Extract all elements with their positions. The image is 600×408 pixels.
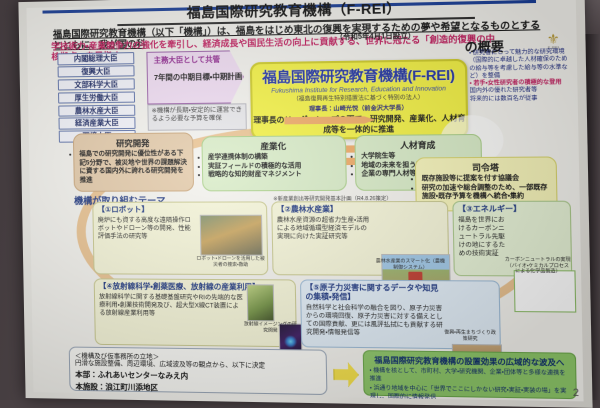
yellow-arrow-icon — [333, 362, 359, 387]
theme-desc: 廃炉にも資する高度な遠隔操作ロボットやドローン等の開発、性能評価手法の研究等 — [98, 217, 196, 241]
minister-item: 経済産業大臣 — [58, 117, 135, 129]
location-facility: 本施設：浪江町川添地区 — [75, 381, 321, 396]
ministers-list: 内閣総理大臣 復興大臣 文部科学大臣 厚生労働大臣 農林水産大臣 経済産業大臣 … — [57, 52, 136, 144]
researcher-line-4: 将来的には数百名が従事 — [470, 95, 569, 104]
minister-item: 文部科学大臣 — [58, 78, 135, 91]
joint-jurisdiction-arrow: 主務大臣として共管 7年間の中期目標・中期計画 — [146, 50, 244, 104]
green-banner-title: 福島国際研究教育機構の設置効果の広域的な波及へ — [369, 354, 569, 368]
theme-card-agriculture: 【②農林水産業】 農林水産資源の超省力生産・活用による地域循環型経済モデルの実現… — [271, 201, 449, 276]
theme-card-nuclear-data: 【⑤原子力災害に関するデータや知見の集積・発信】 自然科学と社会科学の融合を図り… — [300, 279, 501, 349]
pillar-item: 福島での研究開発に優位性がある下記5分野で、被災地や世界の課題解決に資する国内外… — [79, 150, 188, 186]
minister-item: 農林水産大臣 — [58, 104, 135, 116]
theme-caption: カーボンニュートラルの実現（バイオ・ケミカルプロセスによる化学品製造） — [505, 256, 571, 274]
theme-title: 【③エネルギー】 — [458, 205, 566, 214]
theme-card-radiation: 【④放射線科学・創薬医療、放射線の産業利用】 放射線科学に関する基礎基盤研究やR… — [94, 278, 297, 347]
theme-desc: 農林水産資源の超省力生産・活用による地域循環型経済モデルの実現に向けた実証研究等 — [277, 217, 371, 242]
pillar-research-development: 研究開発 福島での研究開発に優位性がある下記5分野で、被災地や世界の課題解決に資… — [73, 132, 194, 191]
green-banner-line-1: ・ 機構を核として、市町村、大学・研究機関、企業・団体等と多様な連携を推進 — [369, 368, 570, 387]
joint-jurisdiction-label: 主務大臣として共管 — [154, 55, 221, 66]
page-number: 2 — [573, 387, 579, 399]
flow-arrow-1 — [284, 116, 375, 124]
theme-caption: 農林水産業のスマート化（農機制御システム） — [375, 258, 446, 270]
theme-card-energy: 【③エネルギー】 福島を世界におけるカーボンニュートラル先駆けの地にするための技… — [452, 201, 572, 277]
theme-thumbnail — [247, 284, 275, 321]
minister-item: 厚生労働大臣 — [58, 91, 135, 104]
theme-caption: ロボット・ドローンを活用した被災者の捜索・救助 — [196, 256, 265, 267]
theme-desc: 福島を世界におけるカーボンニュートラル先駆けの地にするための技術実証 — [458, 216, 507, 258]
projection-screen: 福島国際研究教育機構（F-REI） 福島国際研究教育機構（以下「機構」）は、福島… — [18, 0, 592, 408]
pillar-heading: 司令塔 — [421, 161, 550, 174]
theme-thumbnail — [200, 215, 263, 256]
minister-item: 内閣総理大臣 — [57, 52, 134, 65]
green-banner-line-2: ・ 浜通り地域を中心に「世界でここにしかない研究・実証・実装の場」を実現し、国際… — [370, 385, 571, 401]
location-box: ＜機構及び仮事務所の立地＞ 円滑な施設整備、周辺環境、広域波及等の観点から、以下… — [69, 347, 328, 395]
presentation-slide: 福島国際研究教育機構（F-REI） 福島国際研究教育機構（以下「機構」）は、福島… — [26, 0, 583, 401]
pillar-heading: 産業化 — [208, 139, 340, 152]
pillar-industrialization: 産業化 産学連携体制の構築 実証フィールドの積極的な活用 戦略的な知的財産マネジ… — [201, 135, 347, 191]
theme-thumbnail — [514, 271, 577, 314]
pillar-heading: 研究開発 — [79, 137, 187, 150]
midterm-plan-label: 7年間の中期目標・中期計画 — [154, 72, 242, 82]
frei-institute-box: 福島国際研究教育機構(F-REI) Fukushima Institute fo… — [250, 59, 469, 140]
theme-caption: 復興・再生まちづくり政策研究 — [443, 329, 498, 341]
pillar-item: 戦略的な知的財産マネジメント — [208, 171, 340, 181]
theme-desc: 自然科学と社会科学の融合を図り、原子力災害からの環境回復、原子力災害に対する備え… — [306, 304, 446, 338]
frei-president: 理事長：山崎光悦（前金沢大学長） — [253, 102, 466, 114]
theme-desc: 放射線科学に関する基礎基盤研究やRIの先端的な医療利用・創薬技術開発及び、超大型… — [99, 293, 245, 318]
theme-card-robot: 【①ロボット】 廃炉にも資する高度な遠隔操作ロボットやドローン等の開発、性能評価… — [92, 201, 268, 275]
minister-item: 復興大臣 — [58, 65, 135, 78]
researcher-line-1: ・ 研究者にとって魅力的な研究環境（国際的に卓越した人材確保のための給与等を考慮… — [469, 49, 568, 81]
pillar-item: 研究の加速や総合調整のため、一部既存施設・既存予算を機構へ統合・集約 — [422, 183, 551, 202]
green-banner: 福島国際研究教育機構の設置効果の広域的な波及へ ・ 機構を核として、市町村、大学… — [363, 350, 577, 399]
budget-note: ※機構が長期・安定的に運営できるよう必要な予算を確保 — [147, 103, 247, 131]
theme-title: 【②農林水産業】 — [276, 205, 442, 214]
researcher-environment-column: ・ 研究者にとって魅力的な研究環境（国際的に卓越した人材確保のための給与等を考慮… — [469, 49, 569, 104]
theme-title: 【⑤原子力災害に関するデータや知見の集積・発信】 — [305, 284, 442, 303]
frei-name-jp: 福島国際研究教育機構(F-REI) — [252, 64, 465, 88]
theme-title: 【①ロボット】 — [97, 206, 262, 215]
theme-caption: 放射線イメージングの研究開発 — [243, 321, 298, 333]
establishment-date: （令和5年4月1日設立） — [335, 31, 415, 43]
pillar-heading: 人材育成 — [361, 138, 475, 151]
